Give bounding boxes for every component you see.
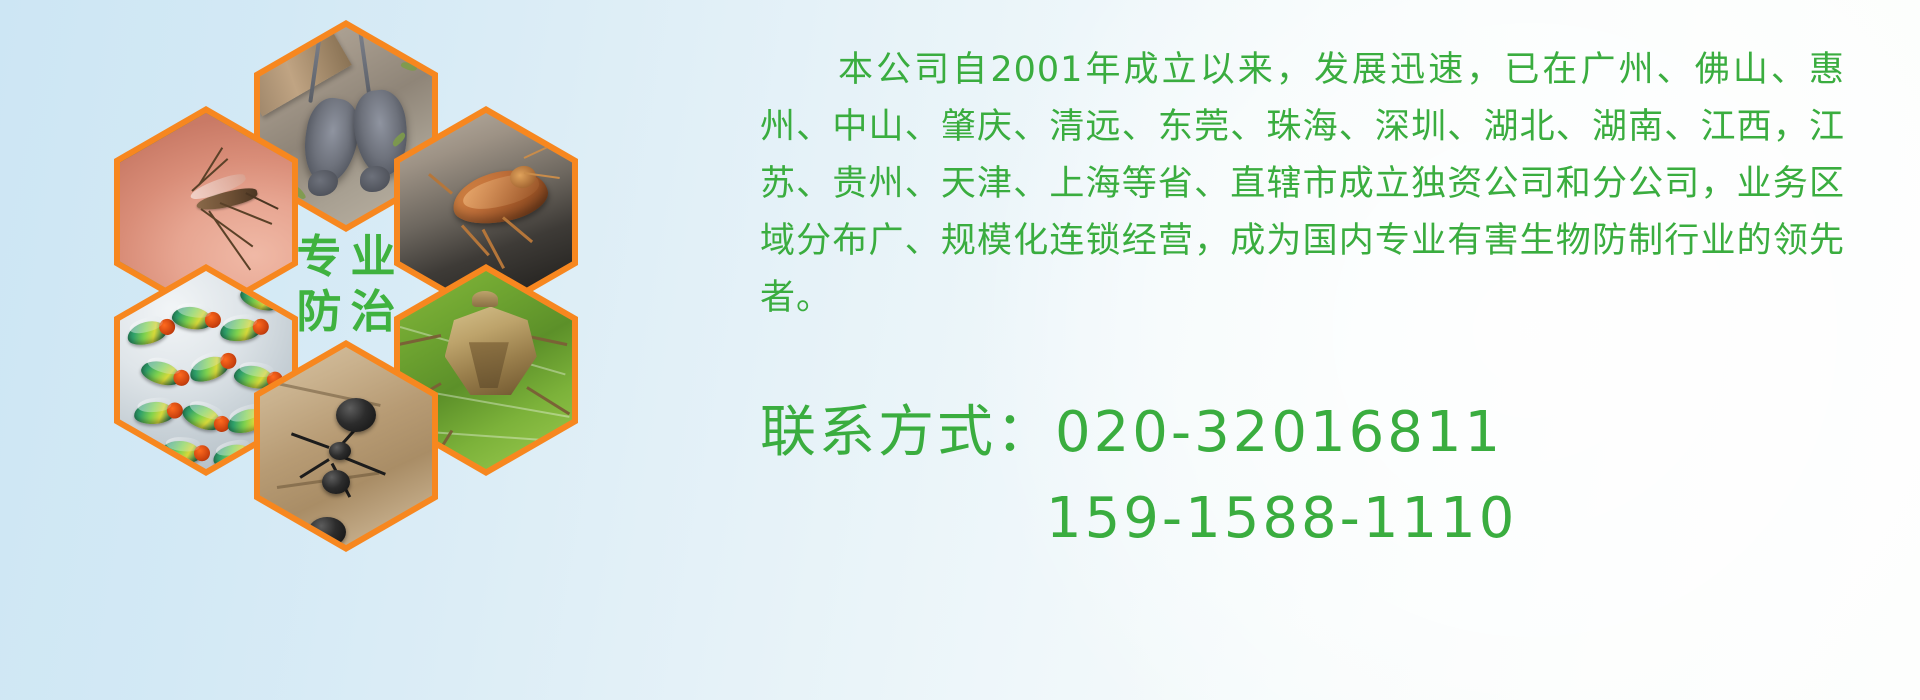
honeycomb-cluster: 专业 防治 [96, 8, 596, 578]
mosquito-proboscis [245, 192, 278, 210]
fly [211, 442, 254, 469]
pest-control-banner: 专业 防治 [0, 0, 1920, 700]
contact-block: 联系方式：020-32016811 159-1588-1110 [760, 390, 1845, 562]
banner-content: 本公司自2001年成立以来，发展迅速，已在广州、佛山、惠州、中山、肇庆、清远、东… [760, 0, 1890, 700]
fly [179, 399, 224, 434]
contact-line-primary: 联系方式：020-32016811 [760, 390, 1845, 476]
ant-second-body [308, 517, 346, 545]
roach-antenna [523, 140, 560, 159]
fly [138, 357, 183, 389]
mosquito-leg [219, 202, 272, 225]
leaf-debris [400, 60, 417, 73]
fly [133, 400, 174, 425]
contact-label: 联系方式： [760, 400, 1055, 465]
fly [186, 352, 231, 386]
slogan-line-1: 专业 [287, 233, 404, 280]
rat-head [360, 166, 390, 192]
fly [125, 318, 169, 349]
slogan-container: 专业 防治 [260, 185, 432, 383]
rat-tail [358, 31, 371, 99]
ant-leg [291, 432, 330, 448]
fly [170, 304, 213, 331]
roach-leg [428, 173, 453, 195]
contact-phone-2[interactable]: 159-1588-1110 [1046, 486, 1517, 551]
company-intro-paragraph: 本公司自2001年成立以来，发展迅速，已在广州、佛山、惠州、中山、肇庆、清远、东… [760, 42, 1845, 327]
roach-leg [461, 224, 490, 256]
roach-leg [502, 216, 533, 243]
fly [160, 439, 202, 465]
contact-line-secondary: 159-1588-1110 [760, 476, 1845, 562]
slogan-line-2: 防治 [287, 288, 404, 335]
ant-head [322, 470, 350, 494]
ant-thorax [329, 442, 351, 460]
contact-phone-1[interactable]: 020-32016811 [1055, 400, 1503, 465]
stinkbug-head [472, 291, 498, 307]
ant-gaster [336, 398, 376, 432]
